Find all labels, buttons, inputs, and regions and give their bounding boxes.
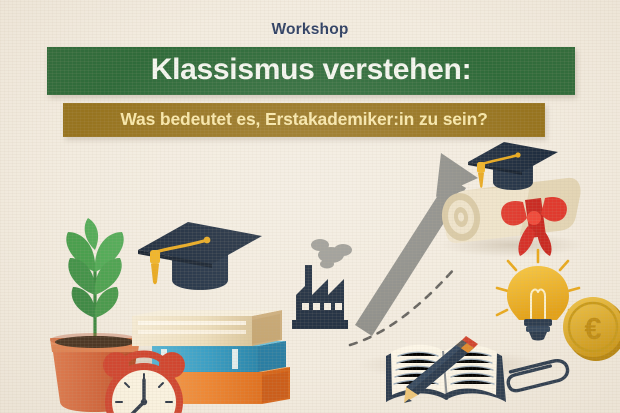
poster-canvas: € Workshop Klassismus verstehen: Was bed… xyxy=(0,0,620,413)
factory-smoke xyxy=(311,239,352,269)
euro-coin: € xyxy=(563,297,620,361)
book-cream xyxy=(132,310,282,346)
graduation-cap-books xyxy=(138,222,262,290)
page-subtitle: Was bedeutet es, Erstakademiker:in zu se… xyxy=(120,111,487,129)
subtitle-banner: Was bedeutet es, Erstakademiker:in zu se… xyxy=(63,103,545,137)
euro-symbol: € xyxy=(584,311,601,346)
open-book xyxy=(386,345,506,402)
title-banner: Klassismus verstehen: xyxy=(47,47,575,95)
illustration: € xyxy=(0,140,620,413)
eyebrow-label: Workshop xyxy=(0,22,620,38)
header-block: Workshop Klassismus verstehen: Was bedeu… xyxy=(0,0,620,38)
factory xyxy=(292,239,352,329)
page-title: Klassismus verstehen: xyxy=(151,55,472,85)
